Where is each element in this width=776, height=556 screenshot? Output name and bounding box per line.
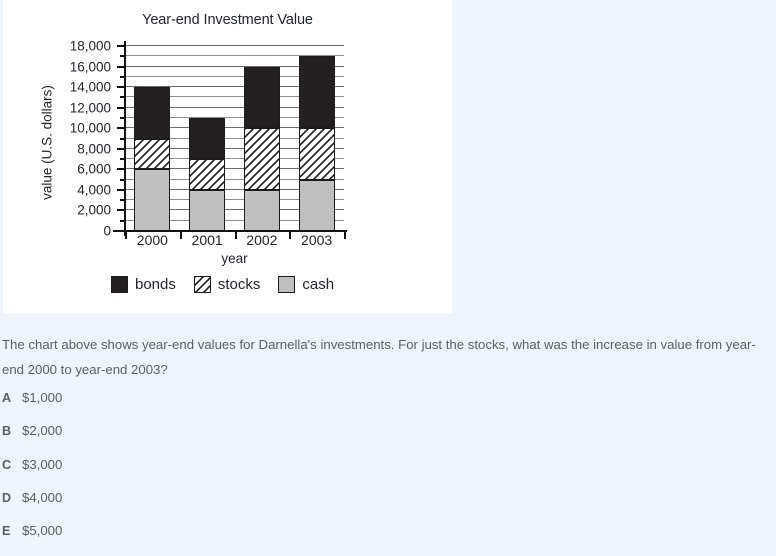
y-axis-tick-label: 14,000 (45, 80, 111, 95)
y-axis-tick-label: 12,000 (45, 100, 111, 115)
legend-swatch-bonds (111, 276, 128, 293)
y-axis-minor-tick (120, 179, 126, 181)
y-axis-tick (117, 209, 126, 211)
y-axis-tick (117, 107, 126, 109)
choice-text-C: $3,000 (22, 457, 62, 472)
bar-segment-bonds-2002 (244, 67, 280, 129)
y-axis-tick (117, 86, 126, 88)
question-text: The chart above shows year-end values fo… (2, 332, 764, 382)
choice-letter-C: C (2, 458, 22, 472)
bar-segment-bonds-2001 (189, 118, 225, 159)
choice-letter-A: A (2, 391, 22, 405)
bar-segment-cash-2001 (189, 190, 225, 231)
bar-2001 (189, 46, 225, 231)
x-axis-title: year (125, 251, 344, 266)
bar-2003 (299, 46, 335, 231)
legend-label-bonds: bonds (135, 276, 176, 293)
legend-item-cash: cash (278, 276, 334, 293)
y-axis-minor-tick (120, 158, 126, 160)
choice-letter-E: E (2, 524, 22, 538)
bar-segment-bonds-2000 (134, 87, 170, 138)
bar-segment-stocks-2002 (244, 128, 280, 190)
x-axis-tick-label-2001: 2001 (177, 232, 237, 248)
y-axis-minor-tick (120, 76, 126, 78)
legend-item-bonds: bonds (111, 276, 176, 293)
chart-legend: bondsstockscash (111, 276, 334, 293)
choice-text-A: $1,000 (22, 390, 62, 405)
y-axis-tick (117, 45, 126, 47)
answer-choice-B[interactable]: B$2,000 (2, 423, 402, 456)
bar-segment-cash-2002 (244, 190, 280, 231)
bar-segment-stocks-2003 (299, 128, 335, 179)
answer-choices: A$1,000B$2,000C$3,000D$4,000E$5,000 (2, 390, 402, 556)
y-axis-tick-label: 18,000 (45, 39, 111, 54)
legend-swatch-stocks (194, 276, 211, 293)
x-axis-tick-label-2000: 2000 (122, 232, 182, 248)
legend-item-stocks: stocks (194, 276, 261, 293)
choice-text-D: $4,000 (22, 490, 62, 505)
bar-2000 (134, 46, 170, 231)
choice-text-E: $5,000 (22, 523, 62, 538)
answer-choice-C[interactable]: C$3,000 (2, 457, 402, 490)
y-axis-tick-label: 4,000 (45, 182, 111, 197)
y-axis-tick-label: 6,000 (45, 162, 111, 177)
choice-letter-B: B (2, 424, 22, 438)
y-axis-tick (117, 66, 126, 68)
plot-area (125, 46, 344, 231)
answer-choice-A[interactable]: A$1,000 (2, 390, 402, 423)
y-axis-tick (117, 127, 126, 129)
choice-letter-D: D (2, 491, 22, 505)
bar-segment-cash-2003 (299, 180, 335, 231)
y-axis-tick-label: 8,000 (45, 141, 111, 156)
y-axis-tick-label: 10,000 (45, 121, 111, 136)
y-axis-tick (117, 189, 126, 191)
y-axis-tick-label: 0 (45, 224, 111, 239)
y-axis-minor-tick (120, 117, 126, 119)
bar-2002 (244, 46, 280, 231)
y-axis-tick (117, 148, 126, 150)
y-axis-tick (117, 168, 126, 170)
legend-label-cash: cash (302, 276, 334, 293)
answer-choice-E[interactable]: E$5,000 (2, 523, 402, 556)
bar-segment-stocks-2000 (134, 139, 170, 170)
legend-label-stocks: stocks (218, 276, 261, 293)
bar-segment-stocks-2001 (189, 159, 225, 190)
y-axis-minor-tick (120, 199, 126, 201)
x-axis-tick-label-2003: 2003 (287, 232, 347, 248)
y-axis-tick-label: 2,000 (45, 203, 111, 218)
bar-segment-cash-2000 (134, 169, 170, 231)
answer-choice-D[interactable]: D$4,000 (2, 490, 402, 523)
y-axis-minor-tick (120, 220, 126, 222)
y-axis-tick-label: 16,000 (45, 59, 111, 74)
y-axis-minor-tick (120, 138, 126, 140)
x-axis-tick-label-2002: 2002 (232, 232, 292, 248)
chart-card: Year-end Investment Value value (U.S. do… (3, 0, 452, 313)
bar-segment-bonds-2003 (299, 56, 335, 128)
y-axis-minor-tick (120, 96, 126, 98)
legend-swatch-cash (278, 276, 295, 293)
y-axis-tick-labels: 02,0004,0006,0008,00010,00012,00014,0001… (45, 0, 111, 300)
choice-text-B: $2,000 (22, 423, 62, 438)
y-axis-minor-tick (120, 55, 126, 57)
